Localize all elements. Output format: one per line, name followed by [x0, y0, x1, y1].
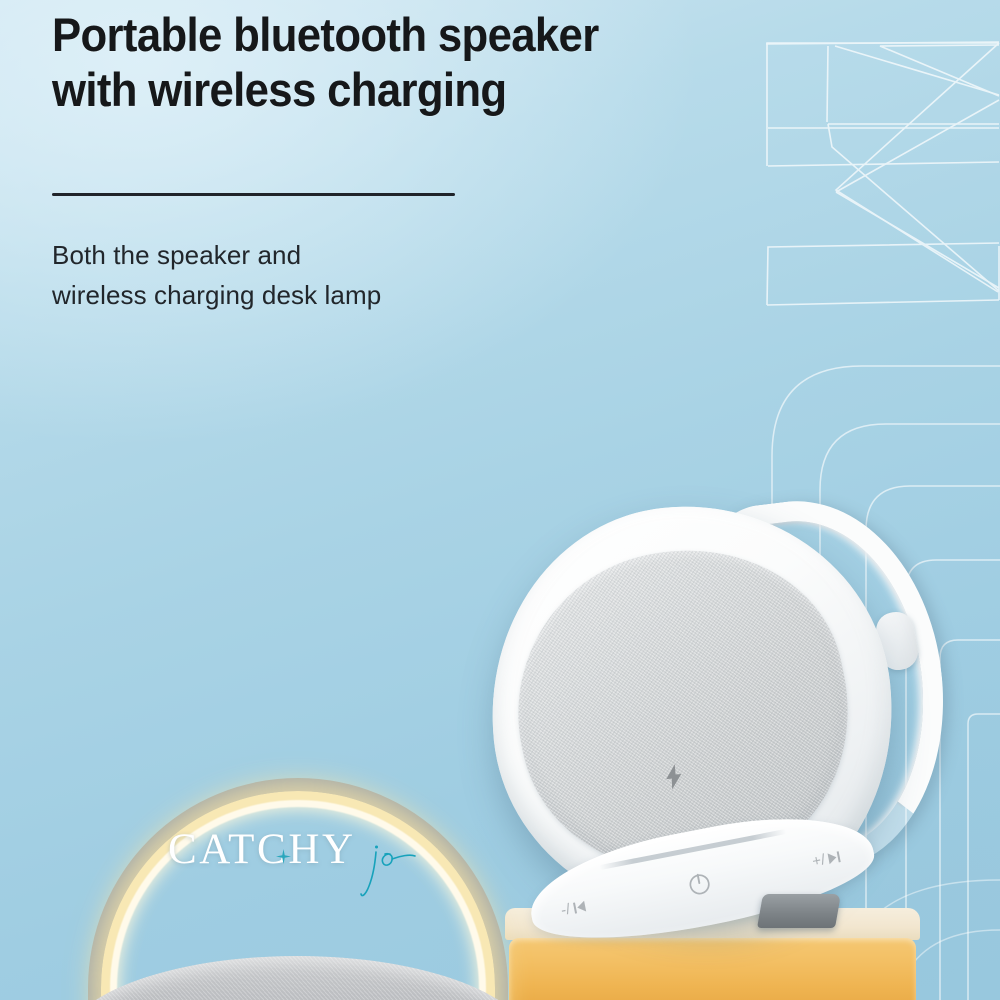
power-button[interactable] [684, 868, 714, 898]
brand-script-signature [360, 842, 416, 904]
pedestal-front-face [509, 938, 916, 1000]
speaker-stand-foot [757, 894, 841, 928]
divider-rule [52, 193, 455, 196]
brand-wordmark: CATCHY [168, 828, 356, 871]
lightning-bolt-icon [663, 763, 685, 790]
prev-track-icon [571, 899, 588, 915]
power-icon [684, 868, 714, 898]
page-title: Portable bluetooth speaker with wireless… [52, 8, 759, 117]
next-track-icon [826, 849, 843, 865]
previous-volume-down-button[interactable]: -/ [560, 898, 589, 918]
wireless-charging-bluetooth-speaker: -/ +/ [492, 496, 972, 936]
minus-slash-label: -/ [560, 901, 572, 917]
sparkle-icon [276, 849, 291, 864]
brand-logo: CATCHY [168, 828, 416, 904]
page-subtitle: Both the speaker and wireless charging d… [52, 236, 381, 315]
product-poster: Portable bluetooth speaker with wireless… [0, 0, 1000, 1000]
next-volume-up-button[interactable]: +/ [811, 848, 843, 868]
plus-slash-label: +/ [811, 852, 827, 869]
copy-block: Portable bluetooth speaker with wireless… [52, 8, 812, 117]
